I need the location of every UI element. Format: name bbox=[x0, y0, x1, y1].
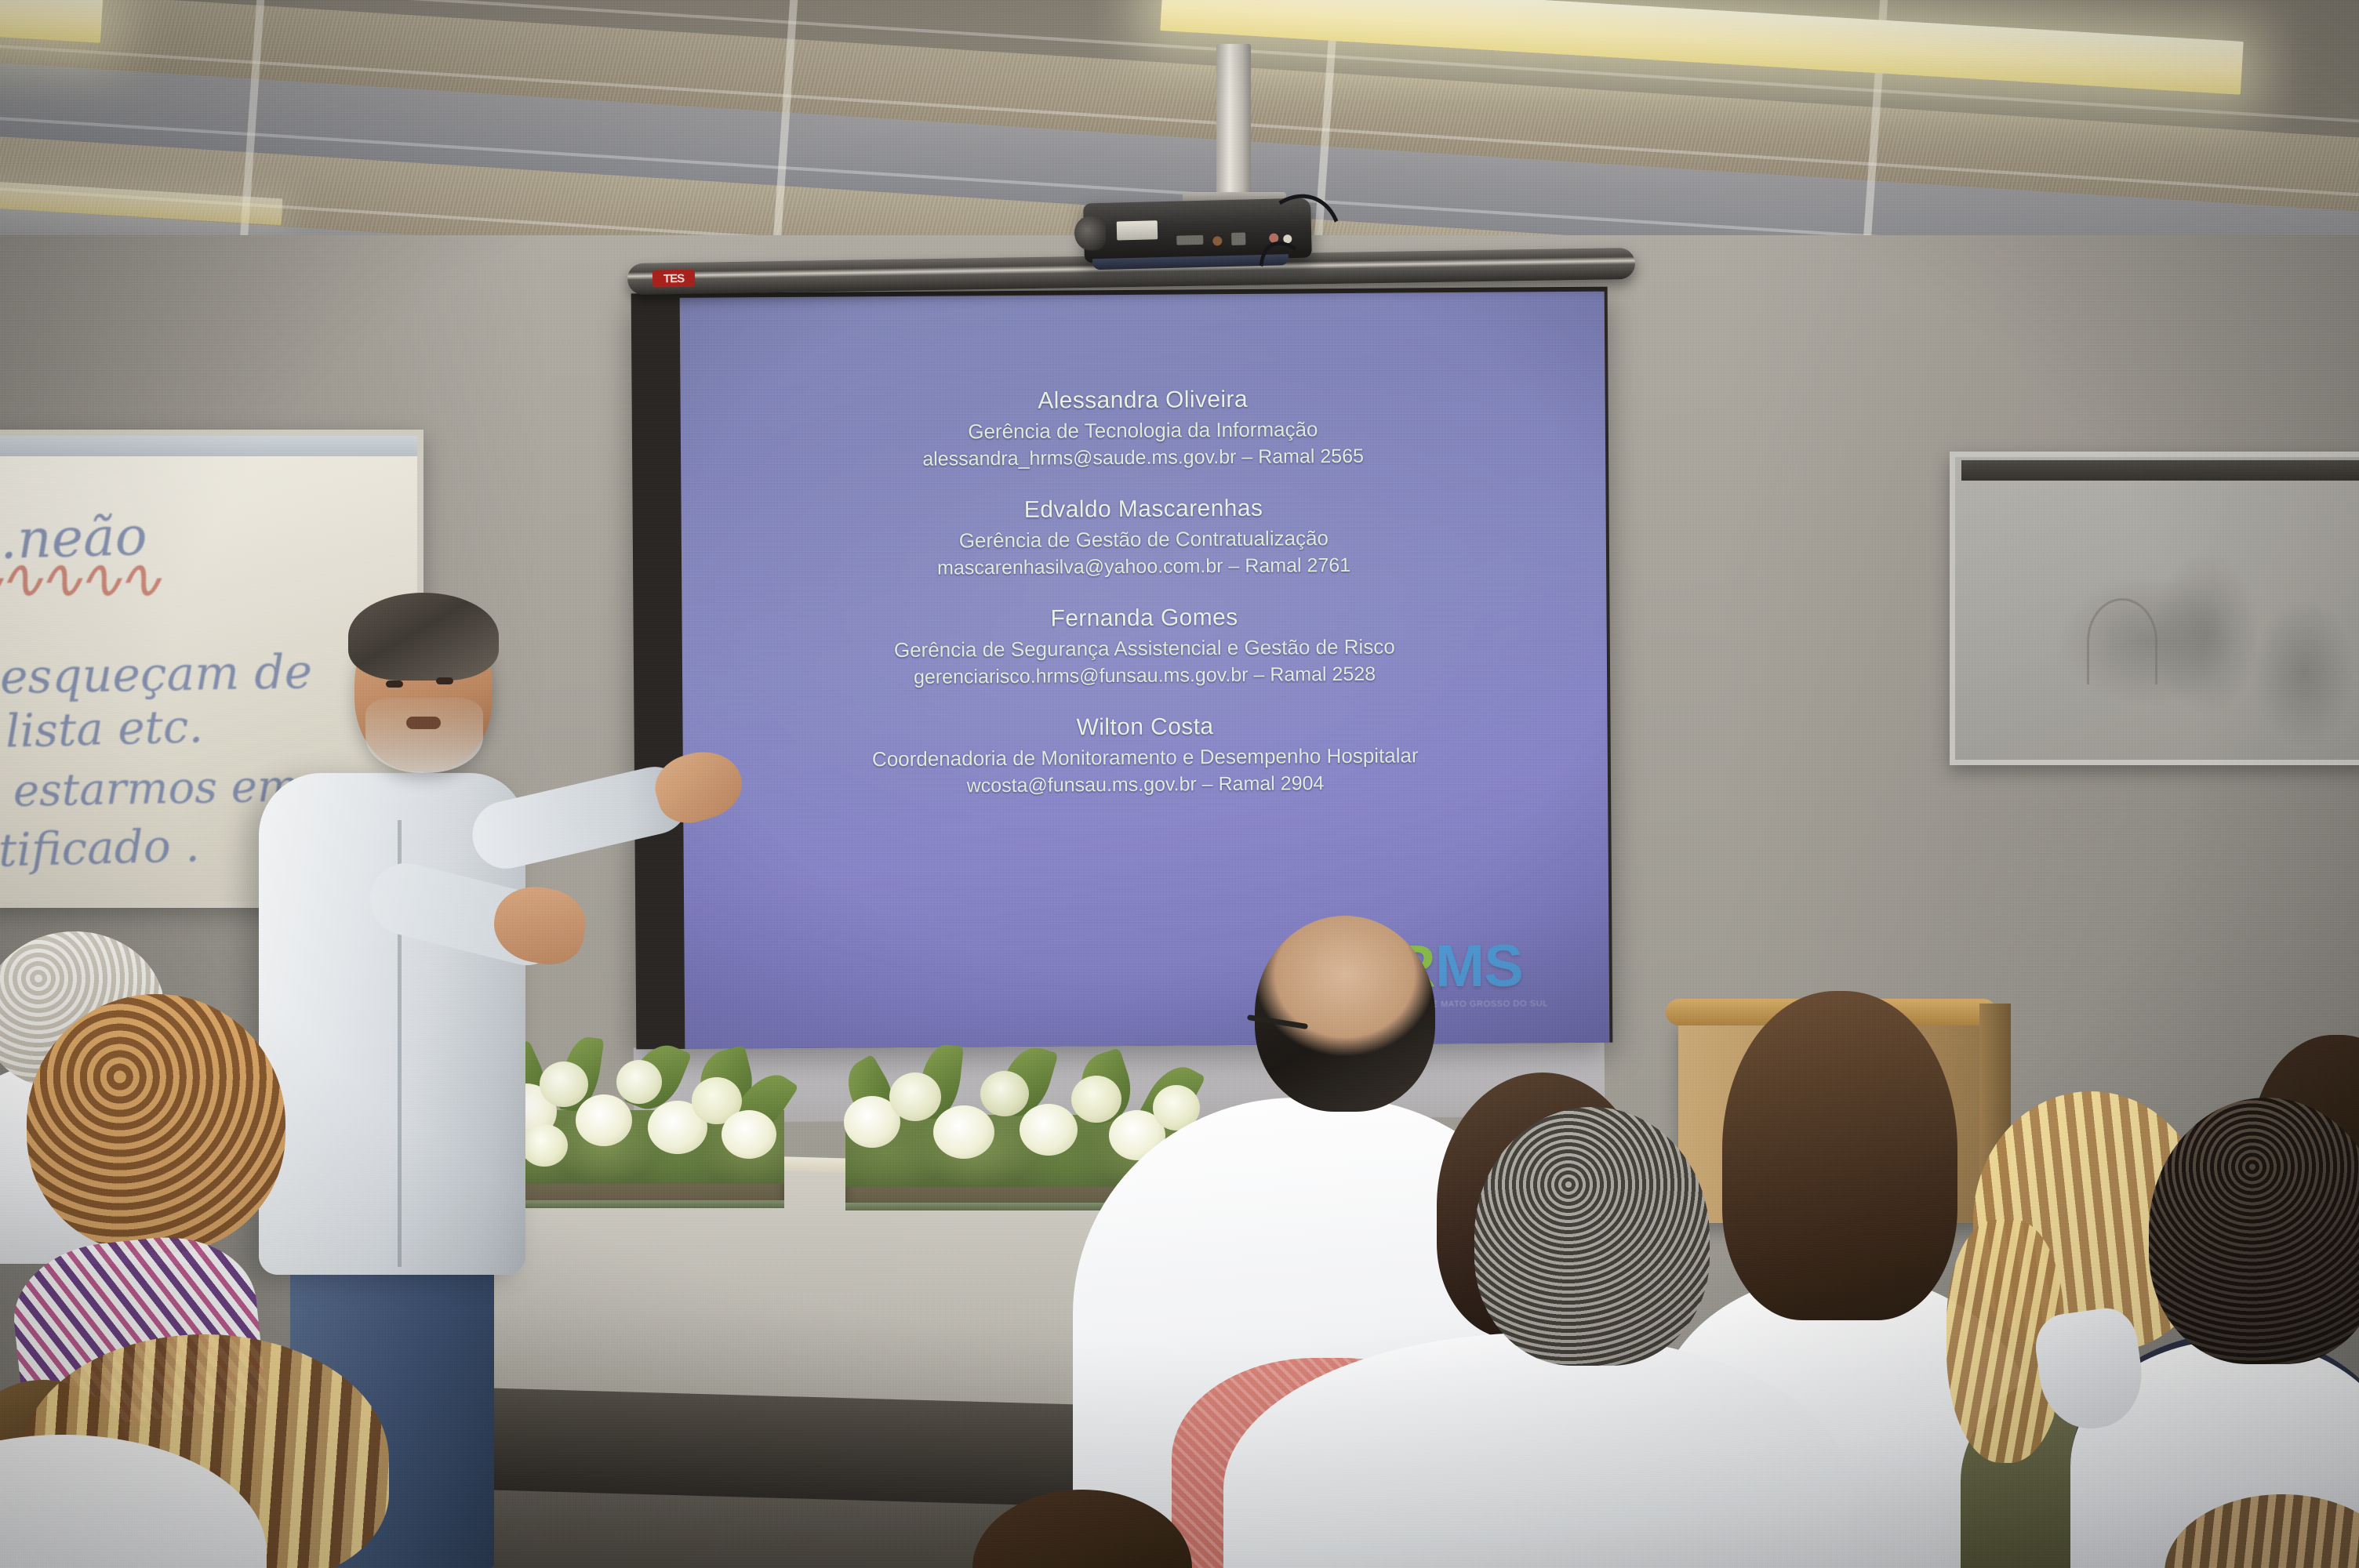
contact-block: Edvaldo Mascarenhas Gerência de Gestão d… bbox=[681, 493, 1606, 582]
presenter-head bbox=[354, 605, 493, 771]
audience-member bbox=[2165, 1494, 2359, 1568]
ceiling-light-fixture bbox=[0, 0, 104, 43]
contact-role: Gerência de Tecnologia da Informação bbox=[681, 416, 1605, 446]
audience-member bbox=[1722, 991, 1957, 1320]
audience-hair bbox=[2149, 1098, 2359, 1364]
conference-room-photo: …neão ∿∿∿∿∿ …esqueçam de a lista etc. • … bbox=[0, 0, 2359, 1568]
contact-name: Fernanda Gomes bbox=[682, 602, 1606, 635]
audience-member bbox=[1255, 916, 1435, 1112]
audience-head bbox=[1255, 916, 1435, 1112]
whiteboard-handwriting-line: • estarmos em bbox=[0, 760, 300, 817]
contact-block: Wilton Costa Coordenadoria de Monitorame… bbox=[682, 711, 1608, 800]
presenter-beard bbox=[365, 698, 483, 773]
contact-name: Alessandra Oliveira bbox=[681, 384, 1605, 417]
whiteboard-handwriting-line: …esqueçam de bbox=[0, 644, 313, 706]
contact-role: Gerência de Gestão de Contratualização bbox=[682, 524, 1606, 555]
contact-block: Alessandra Oliveira Gerência de Tecnolog… bbox=[681, 384, 1606, 473]
audience-member bbox=[27, 994, 285, 1253]
audience-hair bbox=[972, 1490, 1192, 1568]
audience-member bbox=[972, 1490, 1192, 1568]
whiteboard-right bbox=[1950, 452, 2359, 765]
presenter-hair bbox=[348, 593, 499, 681]
audience-member bbox=[1474, 1107, 1710, 1366]
projection-screen: Alessandra Oliveira Gerência de Tecnolog… bbox=[631, 287, 1613, 1050]
audience-hair bbox=[27, 994, 285, 1253]
flower-arrangement bbox=[494, 1043, 784, 1203]
projector-label bbox=[1117, 220, 1158, 240]
hrms-logo-ms: MS bbox=[1434, 932, 1523, 1000]
contact-block: Fernanda Gomes Gerência de Segurança Ass… bbox=[682, 602, 1607, 691]
projector-lens-icon bbox=[1074, 216, 1107, 251]
whiteboard-handwriting-underline: ∿∿∿∿∿ bbox=[0, 546, 155, 612]
contact-email: alessandra_hrms@saude.ms.gov.br – Ramal … bbox=[681, 444, 1605, 473]
audience-member bbox=[2149, 1098, 2359, 1364]
screen-brand-logo: TES bbox=[652, 270, 695, 288]
audience-hair bbox=[1722, 991, 1957, 1320]
contact-email: wcosta@funsau.ms.gov.br – Ramal 2904 bbox=[683, 771, 1608, 800]
contact-email: mascarenhasilva@yahoo.com.br – Ramal 276… bbox=[682, 553, 1606, 582]
projected-slide: Alessandra Oliveira Gerência de Tecnolog… bbox=[680, 292, 1610, 1049]
contact-role: Coordenadoria de Monitoramento e Desempe… bbox=[683, 742, 1608, 773]
contact-role: Gerência de Segurança Assistencial e Ges… bbox=[682, 633, 1607, 664]
contact-name: Edvaldo Mascarenhas bbox=[681, 493, 1605, 526]
contact-email: gerenciarisco.hrms@funsau.ms.gov.br – Ra… bbox=[682, 662, 1607, 691]
contact-name: Wilton Costa bbox=[682, 711, 1607, 744]
whiteboard-handwriting-line: a lista etc. bbox=[0, 699, 204, 759]
audience-hair bbox=[1474, 1107, 1710, 1366]
audience-hair bbox=[2165, 1494, 2359, 1568]
presenter-mouth bbox=[406, 717, 441, 729]
whiteboard-handwriting-line: …tificado . bbox=[0, 818, 200, 878]
slide-contact-list: Alessandra Oliveira Gerência de Tecnolog… bbox=[681, 384, 1608, 826]
projector-mount-pole bbox=[1216, 44, 1251, 201]
